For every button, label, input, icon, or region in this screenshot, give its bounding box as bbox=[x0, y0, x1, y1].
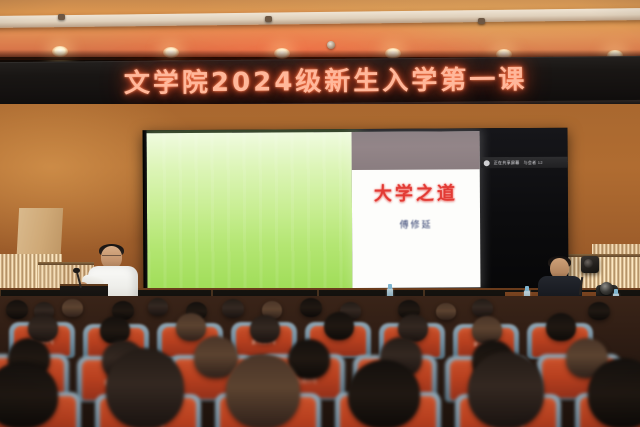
attendee-head bbox=[176, 313, 206, 341]
video-conference-toolbar[interactable]: 正在共享屏幕 与会者 12 × bbox=[481, 157, 569, 169]
ceiling-strip bbox=[0, 8, 640, 28]
projection-green-pane bbox=[147, 132, 353, 289]
projection-screen: 大学之道 傅修延 正在共享屏幕 与会者 12 × bbox=[143, 128, 569, 293]
attendee-head bbox=[324, 312, 354, 340]
share-status-icon bbox=[484, 160, 490, 166]
presentation-slide: 大学之道 傅修延 bbox=[352, 131, 481, 288]
ceiling-strip-fixture bbox=[58, 14, 65, 20]
microphone-icon bbox=[73, 268, 80, 273]
attendee-head bbox=[436, 303, 456, 320]
attendee-head bbox=[468, 352, 544, 427]
ceiling-strip-fixture bbox=[265, 16, 272, 22]
participants-label: 与会者 12 bbox=[524, 159, 543, 165]
attendee-head bbox=[62, 299, 83, 317]
ceiling bbox=[0, 0, 640, 57]
camera-lens-icon bbox=[600, 282, 613, 295]
auditorium-photo: 文学院2024级新生入学第一课 大学之道 傅修延 正在共享屏幕 与会者 12 × bbox=[0, 0, 640, 427]
attendee-head bbox=[546, 313, 576, 341]
attendee-head bbox=[348, 360, 420, 427]
event-title-text: 文学院2024级新生入学第一课 bbox=[124, 63, 528, 101]
attendee-head bbox=[250, 315, 280, 343]
attendee-head bbox=[588, 302, 610, 320]
ceiling-strip-fixture bbox=[478, 18, 485, 24]
sharing-status-label: 正在共享屏幕 bbox=[494, 159, 520, 165]
smoke-detector-icon bbox=[327, 41, 335, 49]
attendee-head bbox=[472, 299, 493, 317]
slide-header-band bbox=[352, 131, 480, 170]
attendee-head bbox=[300, 298, 322, 317]
slide-title: 大学之道 bbox=[352, 179, 480, 206]
attendee-head bbox=[148, 298, 168, 316]
attendee-head bbox=[226, 354, 300, 427]
glasses-icon bbox=[102, 255, 121, 260]
attendee-head bbox=[106, 348, 184, 427]
attendee-head bbox=[222, 299, 244, 318]
audience-seating: 第九排5号 第九排5号 第九排5号 第 bbox=[0, 296, 640, 427]
attendee-head bbox=[6, 300, 28, 319]
slide-subtitle: 傅修延 bbox=[352, 217, 480, 231]
